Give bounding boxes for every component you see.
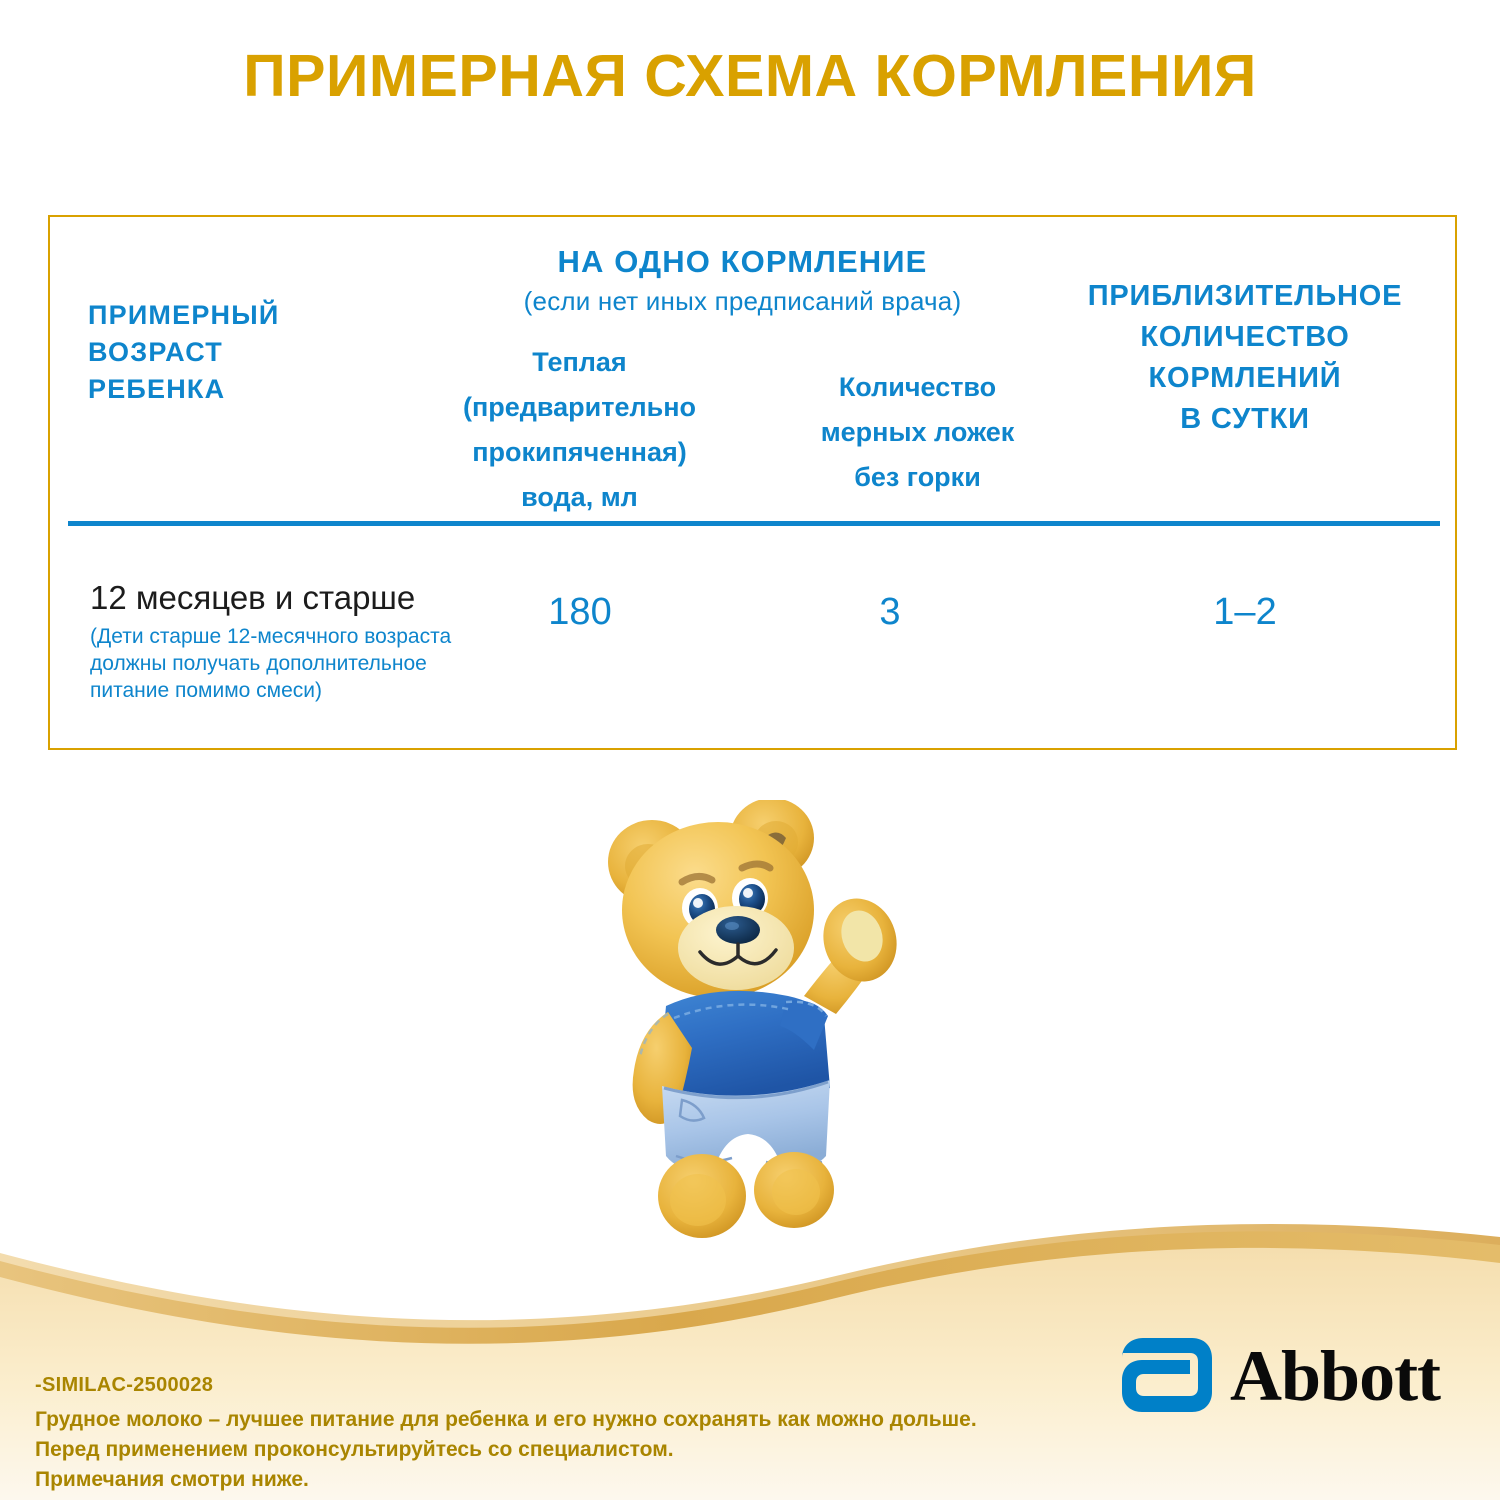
cell-age-note: (Дети старше 12-месячного возраста должн…	[90, 623, 520, 704]
column-header-scoops-line3: без горки	[780, 455, 1055, 500]
cell-age-note-line1: (Дети старше 12-месячного возраста	[90, 623, 520, 650]
column-header-per-feeding-subtitle: (если нет иных предписаний врача)	[455, 284, 1030, 318]
feeding-chart-page: ПРИМЕРНАЯ СХЕМА КОРМЛЕНИЯ ПРИМЕРНЫЙ ВОЗР…	[0, 0, 1500, 1500]
column-header-age: ПРИМЕРНЫЙ ВОЗРАСТ РЕБЕНКА	[88, 297, 418, 408]
column-header-scoops-line2: мерных ложек	[780, 410, 1055, 455]
column-header-feedings-per-day: ПРИБЛИЗИТЕЛЬНОЕ КОЛИЧЕСТВО КОРМЛЕНИЙ В С…	[1040, 276, 1450, 440]
column-header-perday-line3: КОРМЛЕНИЙ	[1040, 358, 1450, 399]
abbott-logo: Abbott	[1118, 1330, 1458, 1425]
column-header-age-line3: РЕБЕНКА	[88, 371, 418, 408]
disclaimer-line-2: Перед применением проконсультируйтесь со…	[35, 1435, 1045, 1465]
cell-age-note-line3: питание помимо смеси)	[90, 677, 520, 704]
column-header-age-line2: ВОЗРАСТ	[88, 334, 418, 371]
column-header-perday-line2: КОЛИЧЕСТВО	[1040, 317, 1450, 358]
teddy-bear-illustration	[590, 800, 930, 1260]
column-header-water-line2: (предварительно	[437, 385, 722, 430]
table-row: 12 месяцев и старше (Дети старше 12-меся…	[90, 578, 520, 704]
table-header-divider	[68, 521, 1440, 526]
column-header-per-feeding-title: НА ОДНО КОРМЛЕНИЕ	[455, 243, 1030, 281]
cell-feedings-per-day: 1–2	[1135, 588, 1355, 636]
column-header-scoops: Количество мерных ложек без горки	[780, 365, 1055, 500]
column-header-water-line3: прокипяченная)	[437, 430, 722, 475]
column-header-scoops-line1: Количество	[780, 365, 1055, 410]
column-header-perday-line1: ПРИБЛИЗИТЕЛЬНОЕ	[1040, 276, 1450, 317]
material-code: -SIMILAC-2500028	[35, 1374, 213, 1397]
disclaimer-line-3: Примечания смотри ниже.	[35, 1465, 1045, 1495]
cell-scoops-count: 3	[790, 588, 990, 636]
abbott-wordmark: Abbott	[1230, 1338, 1440, 1414]
column-header-water-line1: Теплая	[437, 340, 722, 385]
page-title: ПРИМЕРНАЯ СХЕМА КОРМЛЕНИЯ	[0, 44, 1500, 108]
disclaimer-line-1: Грудное молоко – лучшее питание для ребе…	[35, 1405, 1045, 1435]
column-header-per-feeding-group: НА ОДНО КОРМЛЕНИЕ (если нет иных предпис…	[455, 243, 1030, 318]
column-header-water-line4: вода, мл	[437, 475, 722, 520]
cell-age-value: 12 месяцев и старше	[90, 578, 520, 618]
cell-age-note-line2: должны получать дополнительное	[90, 650, 520, 677]
cell-water-ml: 180	[460, 588, 700, 636]
column-header-perday-line4: В СУТКИ	[1040, 399, 1450, 440]
column-header-water: Теплая (предварительно прокипяченная) во…	[437, 340, 722, 520]
disclaimer-text: Грудное молоко – лучшее питание для ребе…	[35, 1405, 1045, 1495]
column-header-age-line1: ПРИМЕРНЫЙ	[88, 297, 418, 334]
abbott-a-mark-icon	[1118, 1336, 1214, 1414]
